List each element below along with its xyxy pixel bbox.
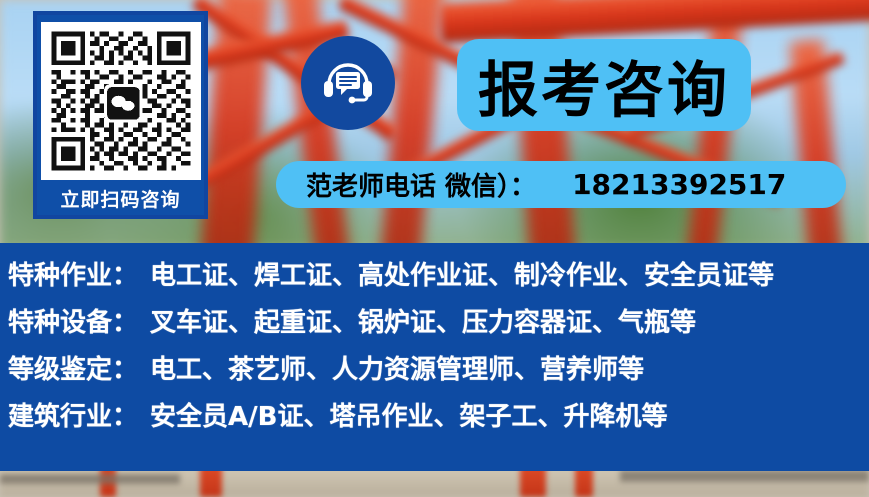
category-items: 安全员A/B证、塔吊作业、架子工、升降机等 [150, 396, 667, 433]
category-label: 建筑行业： [8, 396, 138, 433]
contact-phone-number[interactable]: 18213392517 [572, 168, 786, 201]
headset-support-icon[interactable] [301, 36, 395, 130]
consultation-title-text: 报考咨询 [478, 42, 730, 129]
category-items: 电工证、焊工证、高处作业证、制冷作业、安全员证等 [150, 255, 774, 292]
certificate-category-panel: 特种作业： 电工证、焊工证、高处作业证、制冷作业、安全员证等 特种设备： 叉车证… [0, 243, 869, 471]
qr-code-image[interactable] [41, 22, 201, 180]
contact-phone-bar[interactable]: 范老师电话 微信）： 18213392517 [276, 161, 846, 208]
ground-bar [620, 470, 869, 482]
promo-banner: 立即扫码咨询 报考咨询 范老师电话 微信）： 18213392517 [0, 0, 869, 497]
list-item: 等级鉴定： 电工、茶艺师、人力资源管理师、营养师等 [0, 349, 869, 396]
category-label: 等级鉴定： [8, 349, 138, 386]
category-items: 电工、茶艺师、人力资源管理师、营养师等 [150, 349, 644, 386]
headset-glyph [317, 52, 379, 114]
qr-card-caption: 立即扫码咨询 [44, 180, 197, 220]
list-item: 特种作业： 电工证、焊工证、高处作业证、制冷作业、安全员证等 [0, 255, 869, 302]
category-label: 特种作业： [8, 255, 138, 292]
ground-bar [0, 474, 180, 484]
consultation-title-button[interactable]: 报考咨询 [457, 39, 751, 131]
category-items: 叉车证、起重证、锅炉证、压力容器证、气瓶等 [150, 302, 696, 339]
category-label: 特种设备： [8, 302, 138, 339]
list-item: 建筑行业： 安全员A/B证、塔吊作业、架子工、升降机等 [0, 396, 869, 443]
qr-code-svg [41, 22, 201, 180]
qr-code-card[interactable]: 立即扫码咨询 [33, 11, 208, 219]
list-item: 特种设备： 叉车证、起重证、锅炉证、压力容器证、气瓶等 [0, 302, 869, 349]
contact-label: 范老师电话 微信）： [306, 166, 536, 203]
